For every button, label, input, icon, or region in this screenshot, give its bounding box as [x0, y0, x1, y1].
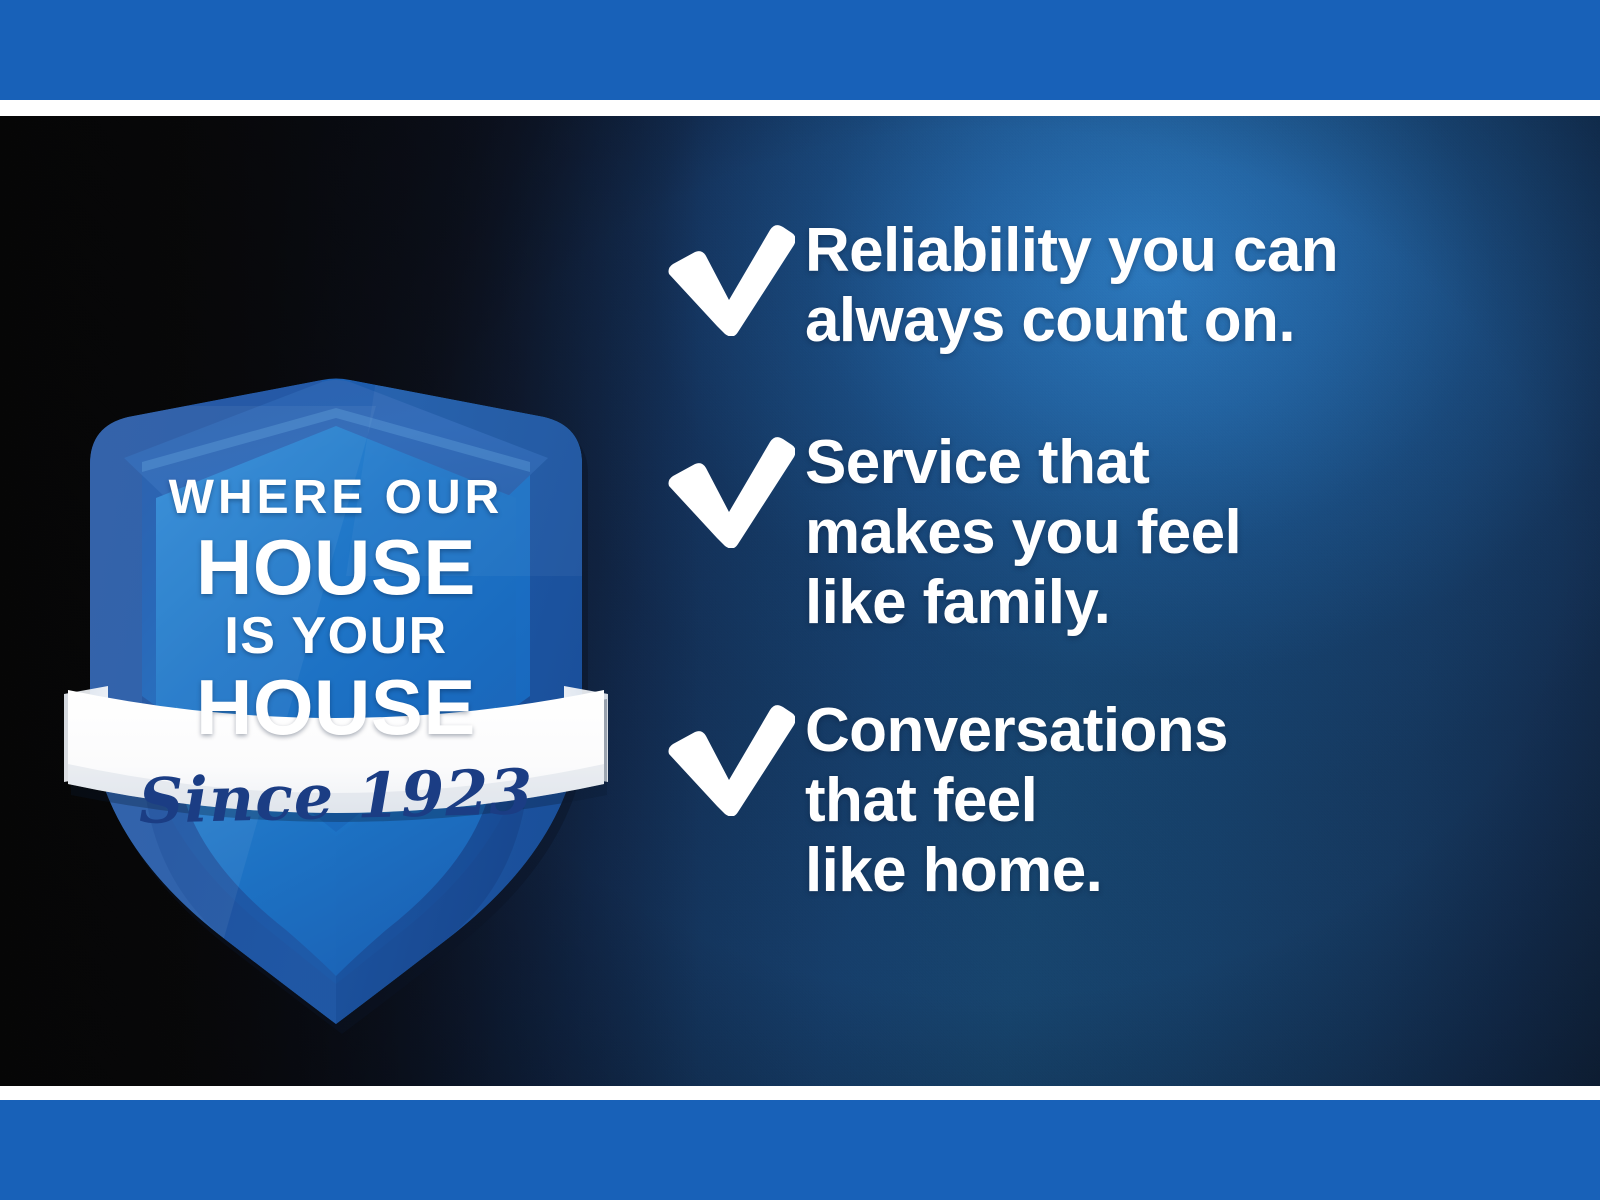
- benefit-text-reliability: Reliability you can always count on.: [805, 216, 1545, 356]
- benefit-item-conversations: Conversations that feel like home.: [665, 696, 1545, 906]
- benefit-line: Reliability you can: [805, 216, 1545, 286]
- check-icon: [665, 704, 795, 816]
- benefit-item-reliability: Reliability you can always count on.: [665, 216, 1545, 356]
- top-white-separator: [0, 100, 1600, 116]
- shield-badge: WHERE OUR HOUSE IS YOUR HOUSE Since 1923: [46, 276, 626, 916]
- benefit-line: Service that: [805, 428, 1545, 498]
- badge-line-house-1: HOUSE: [46, 528, 626, 606]
- benefit-line: that feel: [805, 766, 1545, 836]
- check-icon-wrapper: [665, 216, 805, 336]
- benefit-line: makes you feel: [805, 498, 1545, 568]
- badge-line-is-your: IS YOUR: [46, 610, 626, 662]
- bottom-white-separator: [0, 1086, 1600, 1100]
- top-brand-bar: [0, 0, 1600, 100]
- badge-line-where-our: WHERE OUR: [46, 474, 626, 522]
- check-icon: [665, 224, 795, 336]
- check-icon-wrapper: [665, 696, 805, 816]
- benefit-text-conversations: Conversations that feel like home.: [805, 696, 1545, 906]
- benefit-item-service: Service that makes you feel like family.: [665, 428, 1545, 638]
- benefit-line: like home.: [805, 836, 1545, 906]
- badge-line-house-2: HOUSE: [46, 668, 626, 746]
- benefit-line: Conversations: [805, 696, 1545, 766]
- benefit-text-service: Service that makes you feel like family.: [805, 428, 1545, 638]
- benefit-line: like family.: [805, 568, 1545, 638]
- bottom-brand-bar: [0, 1100, 1600, 1200]
- benefits-list: Reliability you can always count on. Ser…: [665, 216, 1545, 906]
- check-icon: [665, 436, 795, 548]
- promo-graphic: WHERE OUR HOUSE IS YOUR HOUSE Since 1923…: [0, 0, 1600, 1200]
- main-canvas: WHERE OUR HOUSE IS YOUR HOUSE Since 1923…: [0, 116, 1600, 1086]
- check-icon-wrapper: [665, 428, 805, 548]
- benefit-line: always count on.: [805, 286, 1545, 356]
